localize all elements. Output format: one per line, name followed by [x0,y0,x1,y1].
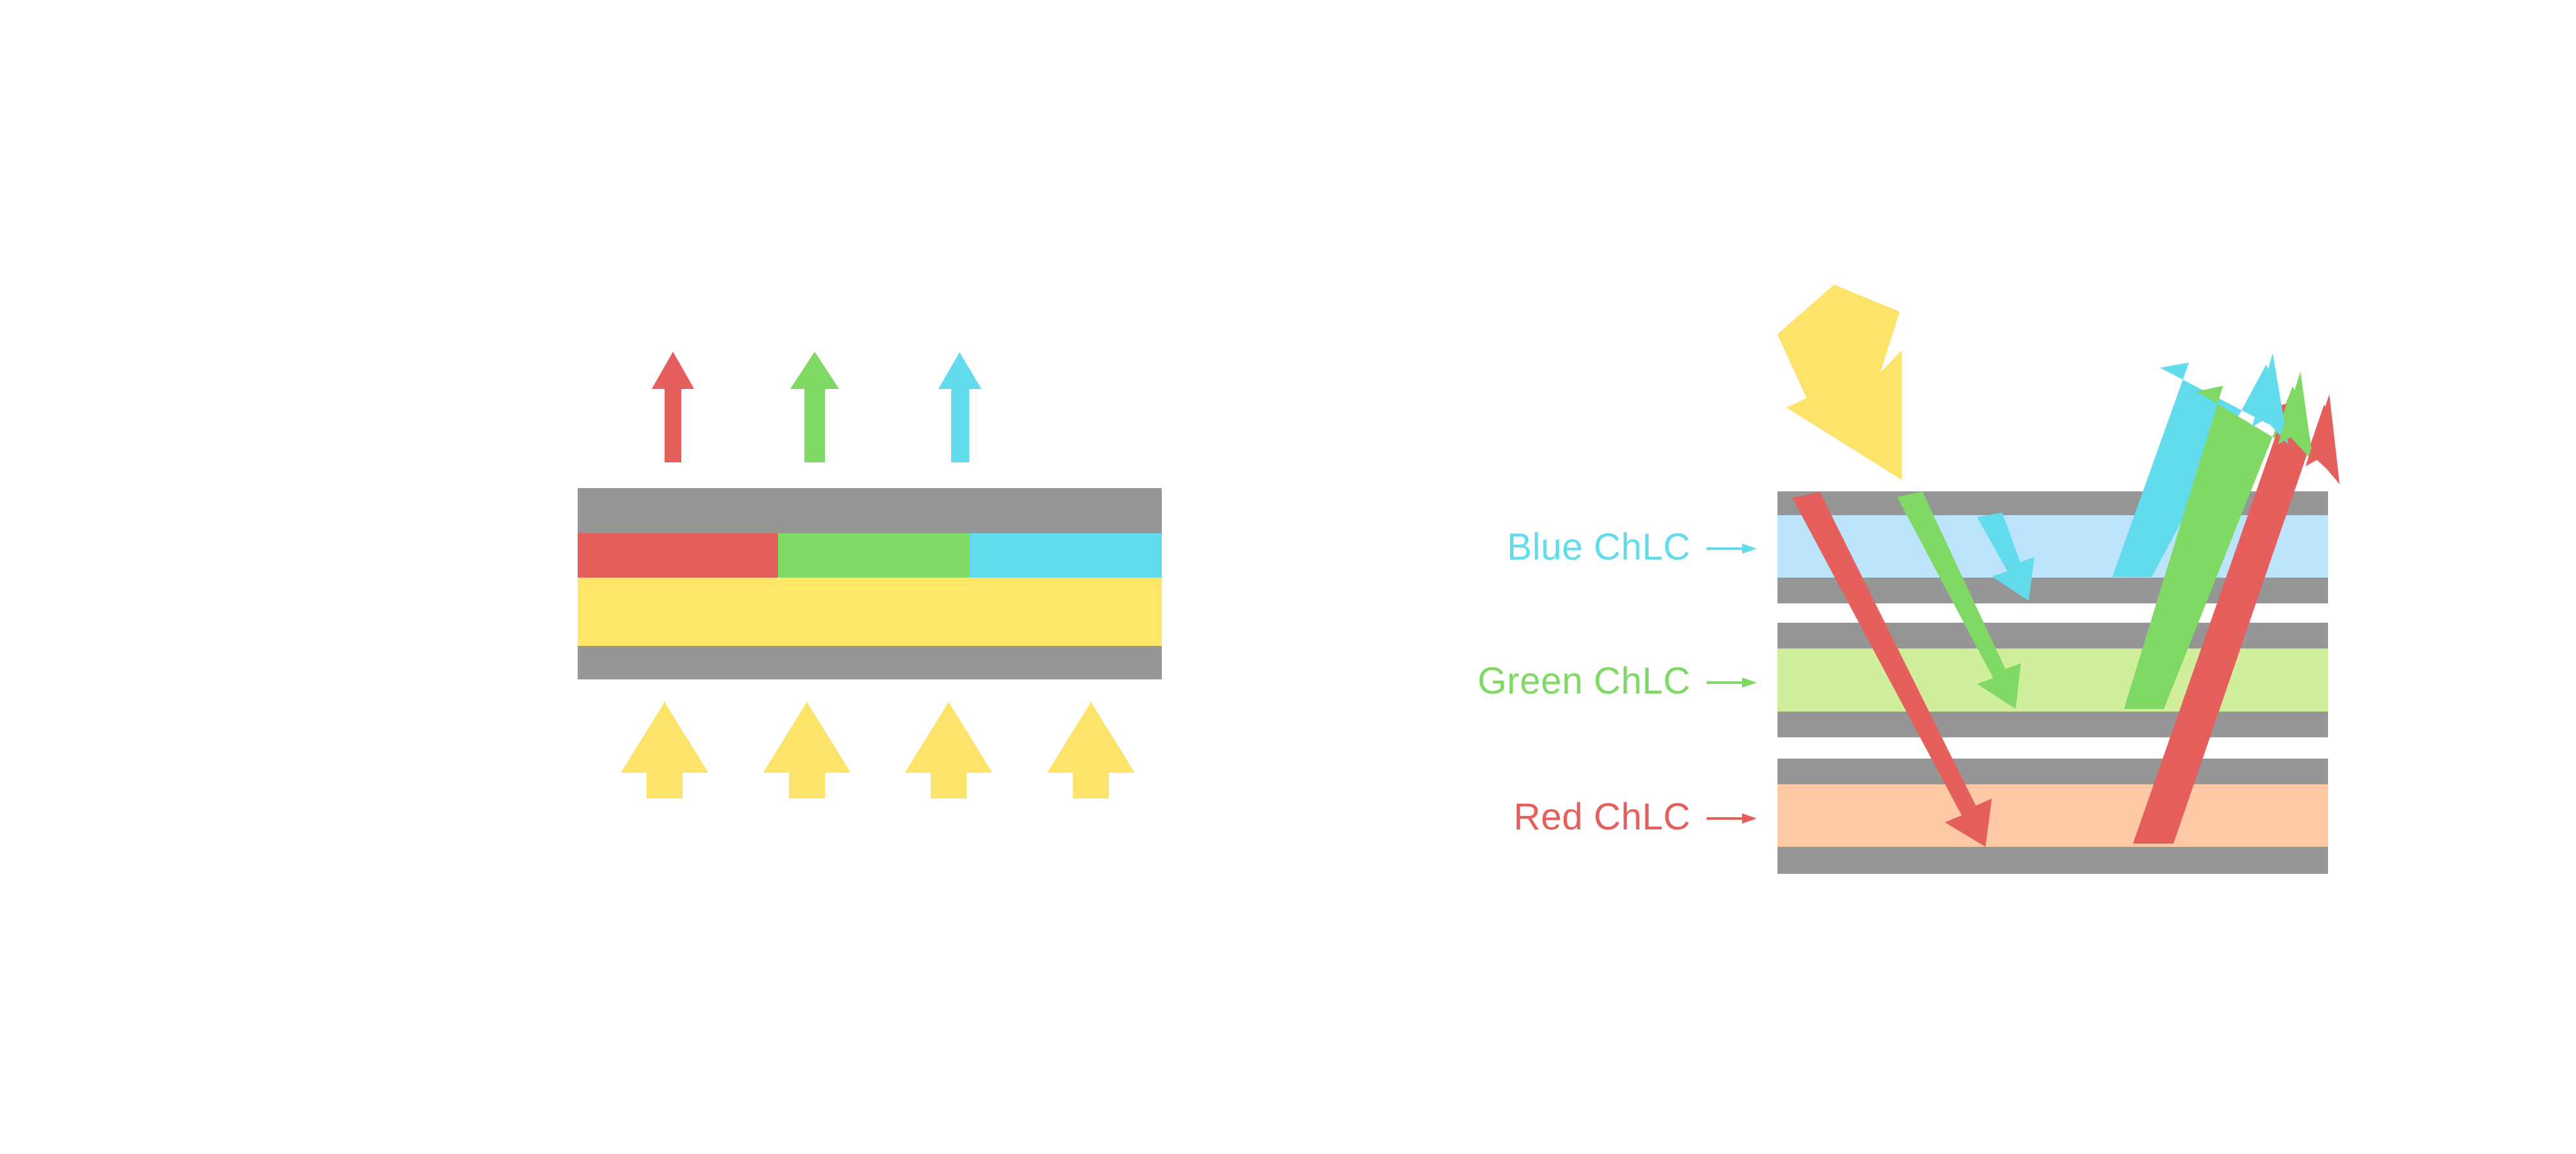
blue-label-arrow-icon [1707,544,1757,554]
backlight-layer [578,578,1162,646]
red-ray-head [2306,394,2340,484]
left-panel [578,352,1162,799]
green-emission-arrow [790,352,839,462]
backlight-arrow-2 [763,702,851,799]
bottom-electrode [578,646,1162,679]
green-chlc-label: Green ChLC [1477,660,1690,702]
ambient-light-arrow [1777,285,1902,480]
backlight-arrow-1 [621,702,708,799]
green-filter-segment [778,533,970,578]
layer-label-group: Blue ChLC Green ChLC Red ChLC [1477,526,1757,838]
green-bottom-electrode [1777,712,2328,737]
red-bottom-electrode [1777,847,2328,874]
top-electrode [578,488,1162,533]
green-label-arrow-icon [1707,677,1757,688]
red-chlc-layer [1777,784,2328,847]
cyan-filter-segment [970,533,1162,578]
backlight-arrow-4 [1047,702,1135,799]
gap-2 [1777,737,2328,759]
chlc-display-diagram: Blue ChLC Green ChLC Red ChLC [0,0,2576,1154]
diagram-canvas: Blue ChLC Green ChLC Red ChLC [0,0,2576,1154]
red-top-electrode [1777,759,2328,784]
left-stack [578,488,1162,679]
backlight-arrow-group [621,702,1135,799]
red-filter-segment [578,533,778,578]
green-chlc-layer [1777,648,2328,712]
right-panel: Blue ChLC Green ChLC Red ChLC [1477,285,2340,874]
blue-chlc-label: Blue ChLC [1507,526,1690,568]
red-label-arrow-icon [1707,813,1757,824]
red-chlc-label: Red ChLC [1513,796,1690,838]
backlight-arrow-3 [905,702,992,799]
cyan-emission-arrow [938,352,981,462]
emitted-arrow-group [652,352,981,462]
red-emission-arrow [652,352,694,462]
